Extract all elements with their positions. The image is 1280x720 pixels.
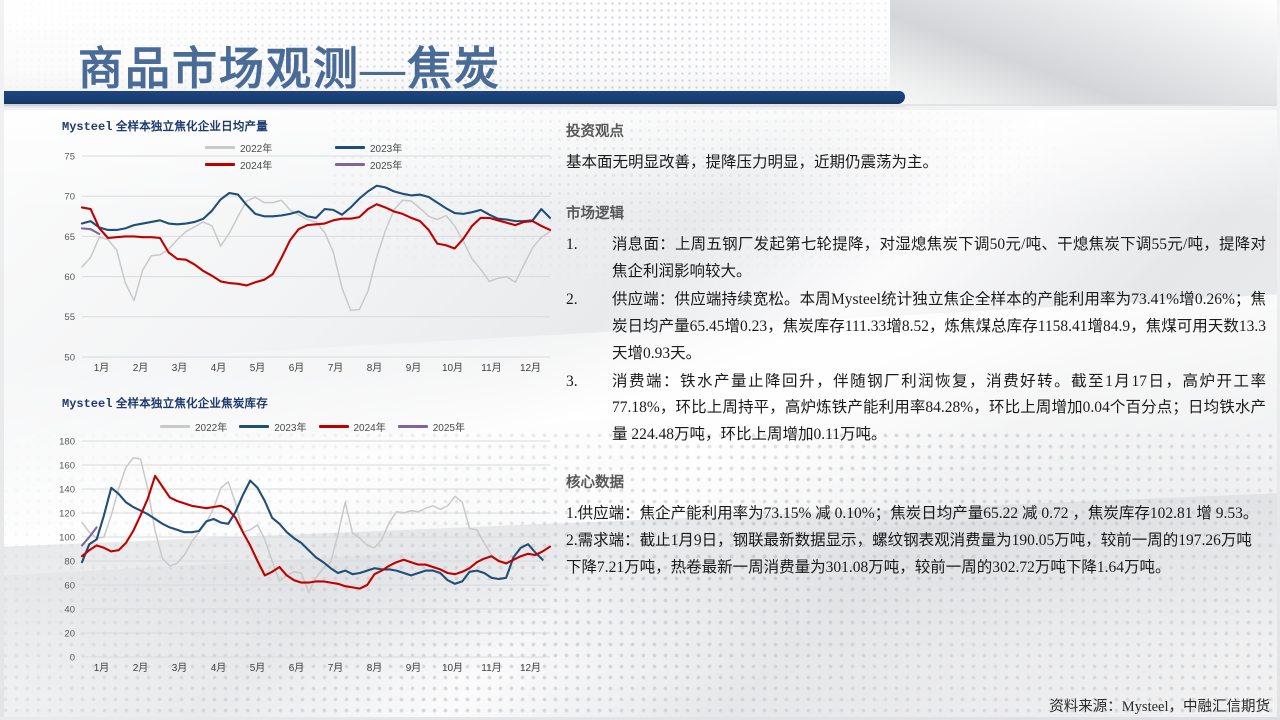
svg-text:8月: 8月 [367,362,383,374]
market-logic-item-text: 供应端：供应端持续宽松。本周Mysteel统计独立焦企全样本的产能利用率为73.… [612,291,1266,362]
legend2-swatch-2024 [319,425,349,428]
svg-text:50: 50 [64,352,75,363]
svg-text:11月: 11月 [481,362,501,374]
svg-text:7月: 7月 [328,362,344,374]
svg-text:20: 20 [64,628,75,639]
chart-daily-output: Mysteel 全样本独立焦化企业日均产量 2022年 2023年 2024年 [40,118,560,383]
svg-text:10月: 10月 [442,662,463,674]
svg-text:75: 75 [64,151,75,162]
core-data-item: 2.需求端：截止1月9日，钢联最新数据显示，螺纹钢表观消费量为190.05万吨，… [566,528,1266,581]
chart1-plot: 5055606570751月2月3月4月5月6月7月8月9月10月11月12月 [40,148,560,383]
market-logic-item-text: 消息面：上周五钢厂发起第七轮提降，对湿熄焦炭下调50元/吨、干熄焦炭下调55元/… [612,236,1266,280]
slide-root: 商品市场观测—焦炭 Mysteel 全样本独立焦化企业日均产量 2022年 20… [0,0,1280,720]
svg-text:5月: 5月 [250,362,266,374]
section-heading-core: 核心数据 [566,471,1266,492]
chart2-plot: 0204060801001201401601801月2月3月4月5月6月7月8月… [40,435,560,685]
header-divider [0,104,1280,106]
section-heading-view: 投资观点 [566,120,1266,141]
spacer-1 [566,181,1266,202]
svg-text:70: 70 [64,192,75,203]
legend2-item-2022: 2022年 [160,419,227,434]
svg-text:40: 40 [64,604,75,615]
legend2-label-2022: 2022年 [195,419,227,434]
svg-text:7月: 7月 [328,662,344,674]
svg-text:6月: 6月 [289,362,305,374]
legend2-item-2023: 2023年 [239,419,306,434]
spacer-2 [566,450,1266,471]
svg-text:6月: 6月 [289,662,305,674]
legend2-swatch-2025 [398,425,428,428]
market-logic-item-text: 消费端：铁水产量止降回升，伴随钢厂利润恢复，消费好转。截至1月17日，高炉开工率… [612,373,1266,444]
legend2-item-2024: 2024年 [319,419,386,434]
chart-coke-inventory: Mysteel 全样本独立焦化企业焦炭库存 2022年 2023年 2024年 [40,395,560,685]
svg-text:120: 120 [59,508,75,519]
legend2-item-2025: 2025年 [398,419,465,434]
svg-text:8月: 8月 [367,662,383,674]
market-logic-item-number: 1. [566,232,596,259]
svg-text:4月: 4月 [211,362,227,374]
chart2-title-text: 全样本独立焦化企业焦炭库存 [116,398,268,410]
svg-text:1月: 1月 [94,362,110,374]
svg-text:3月: 3月 [172,362,188,374]
legend2-label-2023: 2023年 [274,419,306,434]
chart1-brand: Mysteel [62,120,112,134]
svg-text:55: 55 [64,312,75,323]
legend2-label-2024: 2024年 [354,419,386,434]
svg-text:65: 65 [64,232,75,243]
market-logic-item: 3.消费端：铁水产量止降回升，伴随钢厂利润恢复，消费好转。截至1月17日，高炉开… [566,369,1266,450]
svg-text:140: 140 [59,484,75,495]
page-title: 商品市场观测—焦炭 [78,32,501,97]
legend2-swatch-2023 [239,425,269,428]
svg-text:5月: 5月 [250,662,266,674]
svg-text:9月: 9月 [406,662,422,674]
legend2-swatch-2022 [160,425,190,428]
svg-text:12月: 12月 [520,662,541,674]
svg-text:9月: 9月 [406,362,422,374]
chart2-title: Mysteel 全样本独立焦化企业焦炭库存 [62,395,560,411]
svg-text:60: 60 [64,272,75,283]
svg-text:0: 0 [70,652,75,663]
investment-view-text: 基本面无明显改善，提降压力明显，近期仍震荡为主。 [566,150,1266,177]
svg-text:80: 80 [64,556,75,567]
chart2-legend: 2022年 2023年 2024年 2025年 [160,419,500,434]
core-data-list: 1.供应端：焦企产能利用率为73.15% 减 0.10%；焦炭日均产量65.22… [566,501,1266,581]
svg-text:60: 60 [64,580,75,591]
market-logic-item: 2.供应端：供应端持续宽松。本周Mysteel统计独立焦企全样本的产能利用率为7… [566,287,1266,368]
chart2-brand: Mysteel [62,397,112,411]
header-right-panel [890,0,1280,104]
chart1-title: Mysteel 全样本独立焦化企业日均产量 [62,118,560,134]
source-note: 资料来源：Mysteel，中融汇信期货 [1049,695,1270,716]
svg-text:2月: 2月 [133,662,149,674]
section-heading-logic: 市场逻辑 [566,202,1266,223]
svg-text:11月: 11月 [481,662,501,674]
core-data-item: 1.供应端：焦企产能利用率为73.15% 减 0.10%；焦炭日均产量65.22… [566,501,1266,528]
market-logic-item: 1.消息面：上周五钢厂发起第七轮提降，对湿熄焦炭下调50元/吨、干熄焦炭下调55… [566,232,1266,286]
header-accent-bar [0,91,905,104]
content-column: 投资观点 基本面无明显改善，提降压力明显，近期仍震荡为主。 市场逻辑 1.消息面… [566,120,1266,700]
svg-text:1月: 1月 [94,662,110,674]
svg-text:3月: 3月 [172,662,188,674]
svg-text:2月: 2月 [133,362,149,374]
chart1-title-text: 全样本独立焦化企业日均产量 [116,121,268,133]
svg-text:12月: 12月 [520,362,541,374]
svg-text:160: 160 [59,460,75,471]
legend2-label-2025: 2025年 [433,419,465,434]
svg-text:10月: 10月 [442,362,463,374]
svg-text:180: 180 [59,436,75,447]
charts-column: Mysteel 全样本独立焦化企业日均产量 2022年 2023年 2024年 [40,118,560,698]
market-logic-item-number: 3. [566,369,596,396]
market-logic-item-number: 2. [566,287,596,314]
svg-text:100: 100 [59,532,75,543]
svg-text:4月: 4月 [211,662,227,674]
page-edge-left [0,0,4,720]
market-logic-list: 1.消息面：上周五钢厂发起第七轮提降，对湿熄焦炭下调50元/吨、干熄焦炭下调55… [566,232,1266,450]
